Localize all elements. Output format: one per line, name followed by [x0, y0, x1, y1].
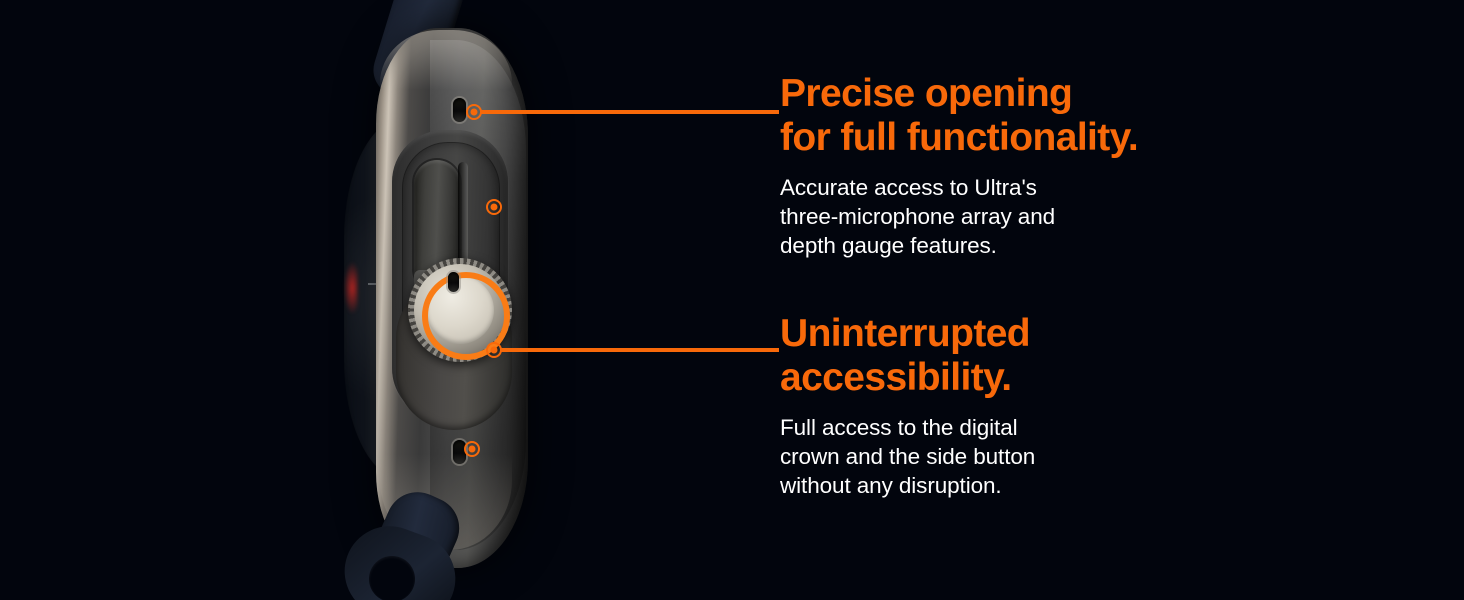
callout-body-accessibility: Full access to the digital crown and the… [780, 413, 1035, 500]
callout-column: Precise opening for full functionality. … [780, 0, 1440, 600]
callout-precise-opening: Precise opening for full functionality. … [780, 72, 1138, 260]
marker-dot-mic-port [466, 104, 482, 120]
microphone-port-top [453, 98, 466, 122]
marker-dot-side-guard [486, 199, 502, 215]
callout-title-accessibility: Uninterrupted accessibility. [780, 312, 1035, 400]
callout-uninterrupted-accessibility: Uninterrupted accessibility. Full access… [780, 312, 1035, 500]
callout-title-precise-opening: Precise opening for full functionality. [780, 72, 1138, 160]
marker-dot-lower-mic [464, 441, 480, 457]
depth-gauge-port [448, 272, 459, 292]
watch-band-hole [369, 556, 415, 600]
product-photo [330, 0, 630, 600]
callout-body-precise-opening: Accurate access to Ultra's three-microph… [780, 173, 1138, 260]
leader-line-precise-opening [481, 110, 779, 114]
feature-infographic: Precise opening for full functionality. … [0, 0, 1464, 600]
action-button-accent [344, 262, 358, 314]
marker-dot-crown [486, 342, 502, 358]
leader-line-accessibility [501, 348, 779, 352]
